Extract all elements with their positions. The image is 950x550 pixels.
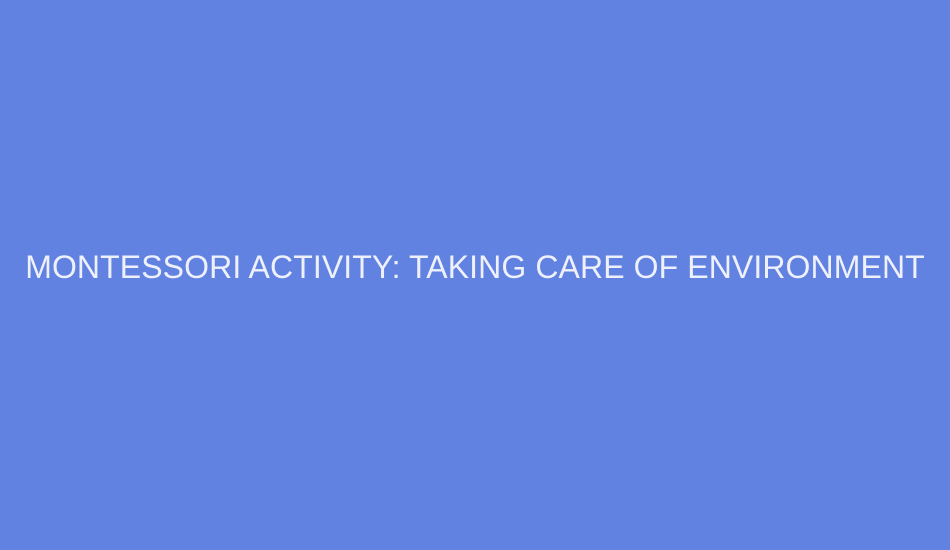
placeholder-thumbnail-card[interactable]: MONTESSORI ACTIVITY: TAKING CARE OF ENVI… — [0, 0, 950, 550]
page-title: MONTESSORI ACTIVITY: TAKING CARE OF ENVI… — [0, 249, 950, 287]
